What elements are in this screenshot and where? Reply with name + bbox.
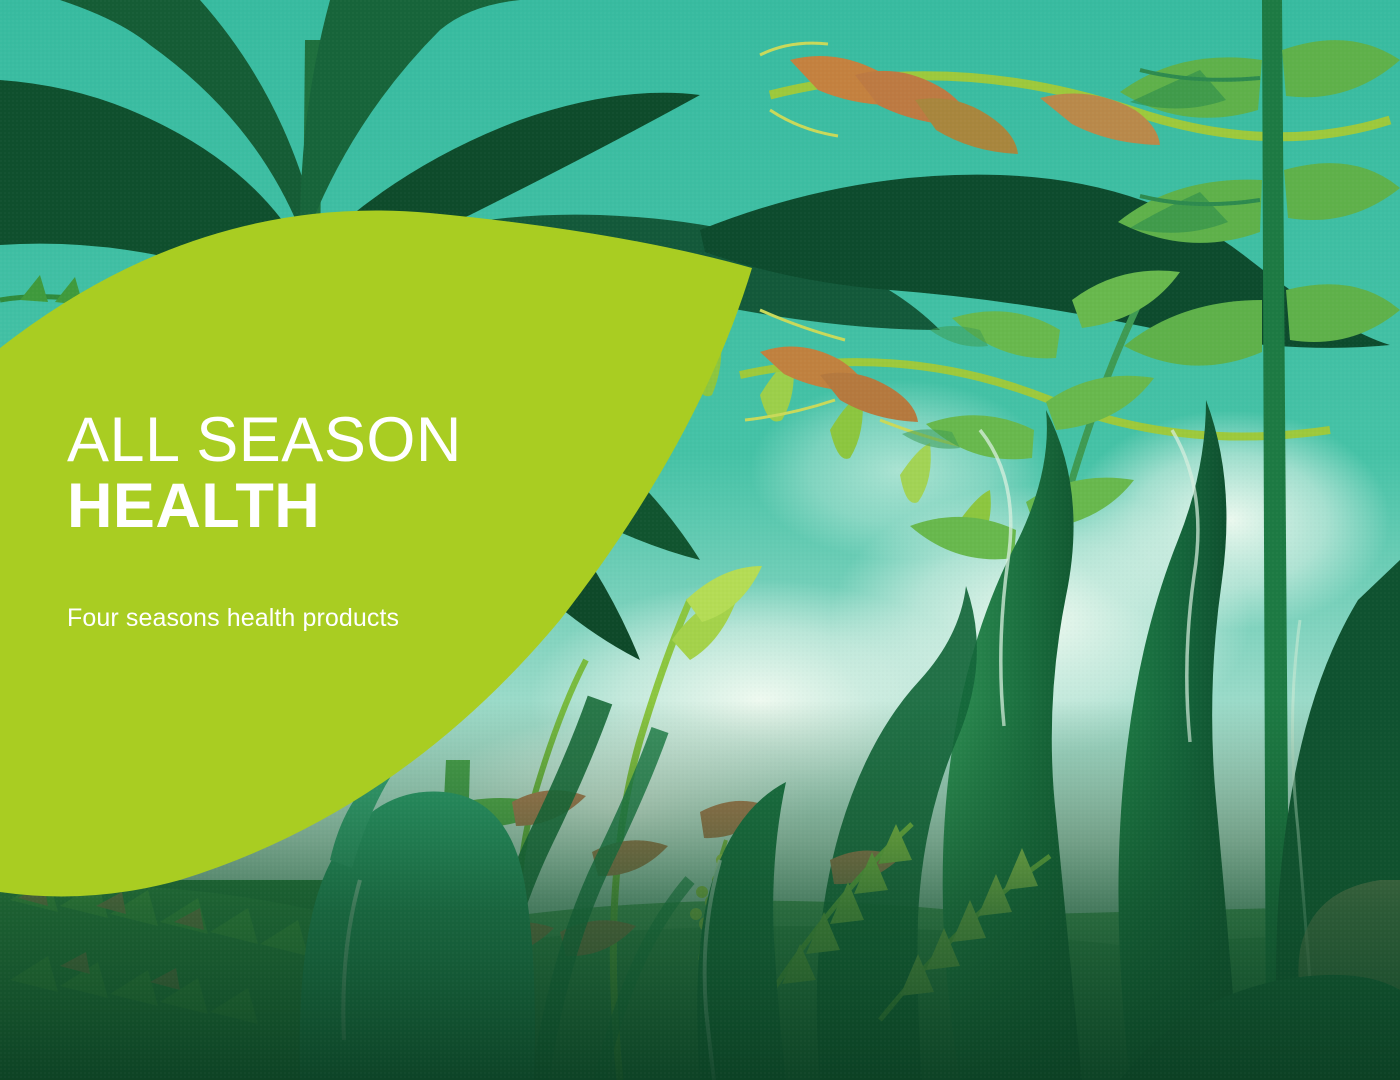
headline-line-1: ALL SEASON [67, 408, 627, 472]
panel-subtitle: Four seasons health products [67, 540, 627, 633]
headline-line-2: HEALTH [67, 472, 627, 540]
poster-canvas: ALL SEASON HEALTH Four seasons health pr… [0, 0, 1400, 1080]
panel-text-block: ALL SEASON HEALTH Four seasons health pr… [67, 408, 627, 633]
